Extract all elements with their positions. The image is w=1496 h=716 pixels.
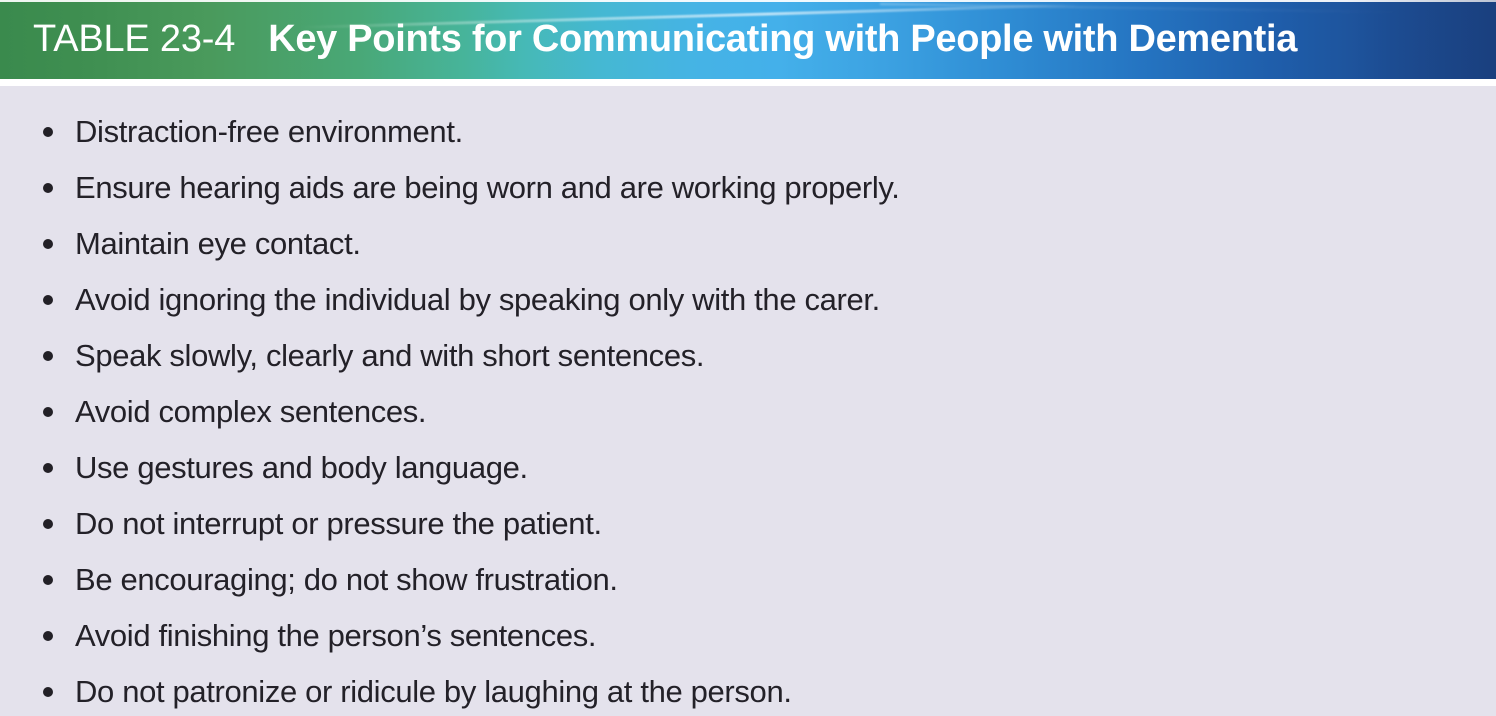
list-item-label: Speak slowly, clearly and with short sen… bbox=[75, 340, 704, 373]
bullet-dot-icon bbox=[43, 295, 53, 305]
list-item-label: Do not patronize or ridicule by laughing… bbox=[75, 676, 792, 709]
list-item-label: Use gestures and body language. bbox=[75, 452, 528, 485]
list-item-label: Avoid ignoring the individual by speakin… bbox=[75, 284, 880, 317]
bullet-dot-icon bbox=[43, 407, 53, 417]
table-figure: TABLE 23-4 Key Points for Communicating … bbox=[0, 0, 1496, 716]
bullet-dot-icon bbox=[43, 631, 53, 641]
bullet-dot-icon bbox=[43, 575, 53, 585]
key-points-list: Distraction-free environment.Ensure hear… bbox=[0, 104, 1496, 716]
bullet-dot-icon bbox=[43, 519, 53, 529]
list-item: Avoid complex sentences. bbox=[0, 384, 1496, 440]
list-item-label: Ensure hearing aids are being worn and a… bbox=[75, 172, 900, 205]
bullet-dot-icon bbox=[43, 183, 53, 193]
list-item: Distraction-free environment. bbox=[0, 104, 1496, 160]
list-item-label: Avoid finishing the person’s sentences. bbox=[75, 620, 596, 653]
table-header-title-group: TABLE 23-4 Key Points for Communicating … bbox=[33, 0, 1297, 79]
bullet-dot-icon bbox=[43, 463, 53, 473]
list-item-label: Maintain eye contact. bbox=[75, 228, 361, 261]
list-item: Be encouraging; do not show frustration. bbox=[0, 552, 1496, 608]
list-item-label: Avoid complex sentences. bbox=[75, 396, 426, 429]
list-item: Speak slowly, clearly and with short sen… bbox=[0, 328, 1496, 384]
header-body-divider bbox=[0, 79, 1496, 86]
list-item: Maintain eye contact. bbox=[0, 216, 1496, 272]
table-number-label: TABLE 23-4 bbox=[33, 18, 235, 61]
page-title: Key Points for Communicating with People… bbox=[268, 18, 1297, 61]
bullet-dot-icon bbox=[43, 239, 53, 249]
bullet-dot-icon bbox=[43, 687, 53, 697]
list-item: Avoid finishing the person’s sentences. bbox=[0, 608, 1496, 664]
list-item-label: Be encouraging; do not show frustration. bbox=[75, 564, 618, 597]
table-header-bar: TABLE 23-4 Key Points for Communicating … bbox=[0, 0, 1496, 79]
list-item: Avoid ignoring the individual by speakin… bbox=[0, 272, 1496, 328]
bullet-dot-icon bbox=[43, 351, 53, 361]
table-body-panel: Distraction-free environment.Ensure hear… bbox=[0, 86, 1496, 716]
list-item-label: Distraction-free environment. bbox=[75, 116, 463, 149]
list-item: Ensure hearing aids are being worn and a… bbox=[0, 160, 1496, 216]
header-right-shade bbox=[1346, 0, 1496, 79]
list-item: Do not patronize or ridicule by laughing… bbox=[0, 664, 1496, 716]
list-item-label: Do not interrupt or pressure the patient… bbox=[75, 508, 602, 541]
list-item: Use gestures and body language. bbox=[0, 440, 1496, 496]
bullet-dot-icon bbox=[43, 127, 53, 137]
list-item: Do not interrupt or pressure the patient… bbox=[0, 496, 1496, 552]
